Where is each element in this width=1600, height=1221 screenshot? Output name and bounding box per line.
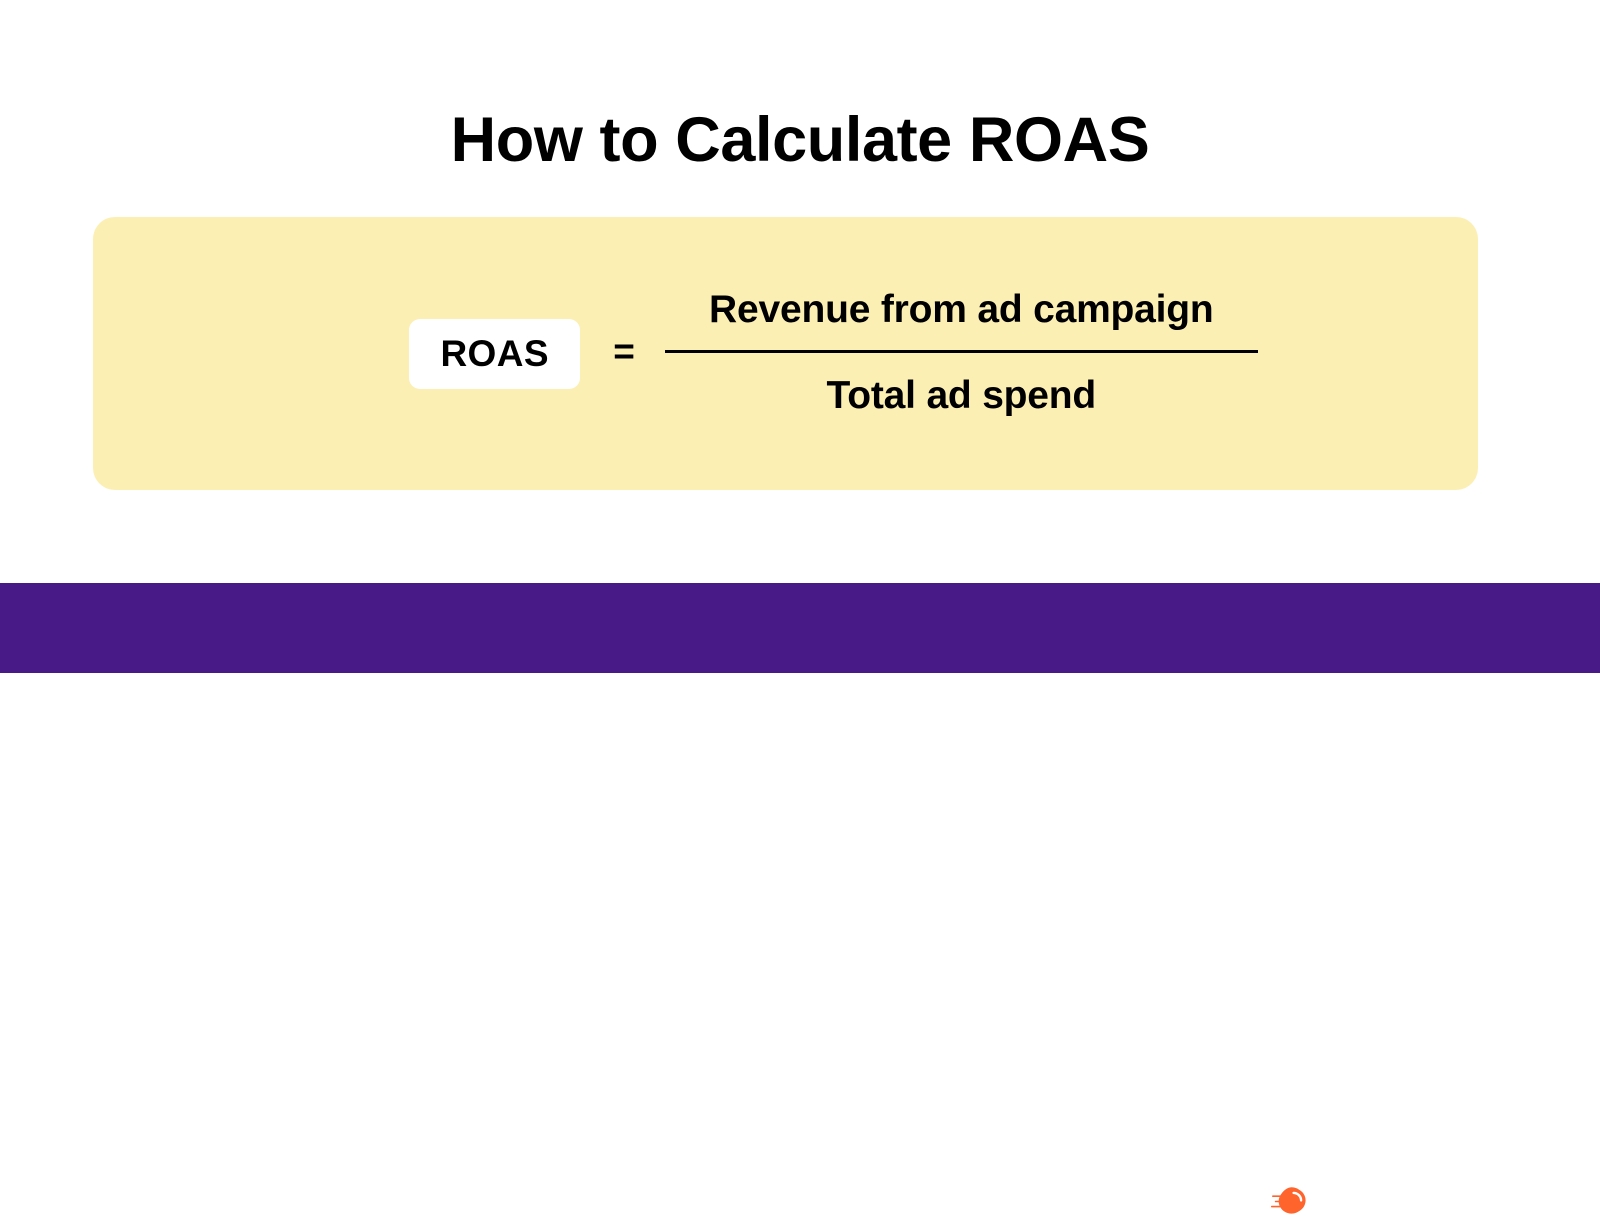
equals-sign: = (613, 333, 635, 370)
semrush-logo: SEMRUSH (1271, 1181, 1488, 1221)
formula-fraction: Revenue from ad campaign Total ad spend (665, 289, 1258, 418)
semrush-comet-icon (1271, 1184, 1315, 1218)
fraction-denominator: Total ad spend (827, 353, 1097, 418)
roas-term-pill: ROAS (409, 319, 580, 389)
footer-bar: semrush.com SEMRUSH (0, 583, 1600, 673)
footer-url: semrush.com (86, 1189, 213, 1214)
semrush-wordmark: SEMRUSH (1329, 1186, 1488, 1217)
formula-row: ROAS = Revenue from ad campaign Total ad… (93, 217, 1478, 490)
fraction-numerator: Revenue from ad campaign (709, 289, 1214, 350)
formula-card: ROAS = Revenue from ad campaign Total ad… (93, 217, 1478, 490)
infographic-page: How to Calculate ROAS ROAS = Revenue fro… (0, 0, 1600, 673)
page-title: How to Calculate ROAS (0, 104, 1600, 176)
